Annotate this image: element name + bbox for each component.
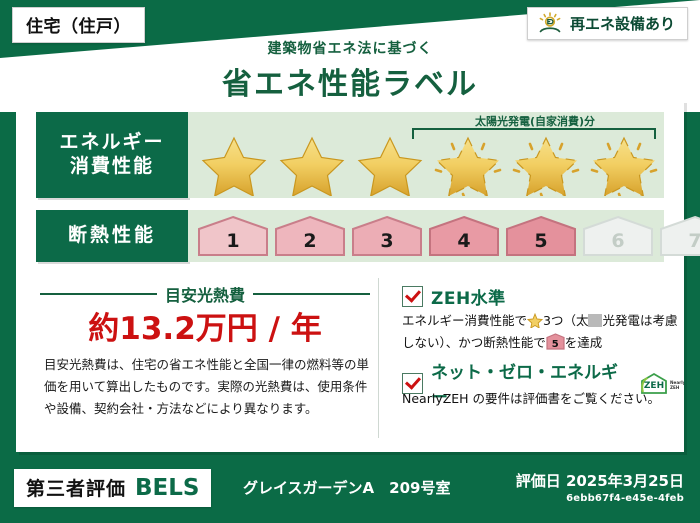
zeh-desc-part4: を達成 [565,335,603,350]
star-filled [274,134,350,196]
energy-rating-area: 太陽光発電(自家消費)分 [188,112,664,198]
insulation-level-scale: 1 2 3 4 5 [196,215,700,257]
title-main: 省エネ性能ラベル [0,59,700,103]
renewable-badge-label: 再エネ設備あり [570,13,675,34]
zeh-standard-description: エネルギー消費性能で3つ（太光発電は考慮しない）、かつ断熱性能で5を達成 [402,310,688,353]
bels-en-label: BELS [135,475,199,501]
insulation-level-6: 6 [581,215,655,257]
redacted-character [588,314,602,327]
star-solar [586,134,662,196]
sun-icon [538,12,562,34]
insulation-level-7: 7 [658,215,700,257]
insulation-level-number: 1 [196,230,270,252]
insulation-level-number: 7 [658,230,700,252]
heading-rule-right [253,293,370,295]
energy-label-line1: エネルギー [59,131,164,155]
evaluation-date-value: 2025年3月25日 [566,472,684,490]
insulation-rating-area: 1 2 3 4 5 [188,210,664,262]
house-level-icon: 5 [546,333,565,350]
renewable-energy-badge: 再エネ設備あり [527,7,688,40]
check-icon [402,286,423,307]
star-rating [196,134,662,196]
evaluation-id: 6ebb67f4-e45e-4feb [516,493,684,504]
building-name: グレイスガーデンA 209号室 [243,477,450,498]
insulation-performance-label: 断熱性能 [36,210,188,262]
heading-rule-left [40,293,157,295]
zeh-standard-row: ZEH水準 [402,284,506,309]
footer-bar: 第三者評価 BELS グレイスガーデンA 209号室 評価日 2025年3月25… [0,461,700,523]
insulation-level-number: 2 [273,230,347,252]
insulation-level-number: 6 [581,230,655,252]
zeh-desc-part1: エネルギー消費性能で [402,313,527,328]
evaluation-info: 評価日 2025年3月25日 6ebb67f4-e45e-4feb [516,470,684,504]
star-solar [430,134,506,196]
evaluation-date-label: 評価日 [516,472,561,490]
star-filled [352,134,428,196]
insulation-performance-row: 断熱性能 1 2 3 [36,210,664,262]
insulation-level-3: 3 [350,215,424,257]
insulation-level-2: 2 [273,215,347,257]
zeh-desc-part2: 3つ（太 [543,313,588,328]
title-subtitle: 建築物省エネ法に基づく [0,38,700,58]
bels-jp-label: 第三者評価 [26,474,126,501]
insulation-level-5: 5 [504,215,578,257]
utility-cost-value: 約13.2万円 / 年 [40,303,370,348]
insulation-level-number: 5 [504,230,578,252]
panel-divider [378,278,379,438]
insulation-level-1: 1 [196,215,270,257]
insulation-label-text: 断熱性能 [68,224,156,248]
bels-evaluation-badge: 第三者評価 BELS [14,469,211,507]
star-solar [508,134,584,196]
energy-label-card: 住宅（住戸） 再エネ設備あり 建築物省エネ法に基づく 省エネ性能ラベル [0,0,700,523]
insulation-level-number: 3 [350,230,424,252]
utility-cost-description: 目安光熱費は、住宅の省エネ性能と全国一律の燃料等の単価を用いて算出したものです。… [44,354,374,420]
energy-performance-label: エネルギー 消費性能 [36,112,188,198]
main-panel: エネルギー 消費性能 太陽光発電(自家消費)分 [16,100,684,452]
evaluation-date: 評価日 2025年3月25日 [516,470,684,491]
insulation-level-4: 4 [427,215,501,257]
energy-performance-row: エネルギー 消費性能 太陽光発電(自家消費)分 [36,112,664,198]
star-filled [196,134,272,196]
star-icon [527,313,543,328]
energy-label-line2: 消費性能 [70,155,154,179]
net-zero-energy-description: NearlyZEH の要件は評価書をご覧ください。 [402,388,688,409]
label-title: 建築物省エネ法に基づく 省エネ性能ラベル [0,38,700,103]
zeh-standard-title: ZEH水準 [431,284,506,309]
house-level-number: 5 [546,336,565,353]
insulation-level-number: 4 [427,230,501,252]
solar-annotation-label: 太陽光発電(自家消費)分 [412,113,658,129]
